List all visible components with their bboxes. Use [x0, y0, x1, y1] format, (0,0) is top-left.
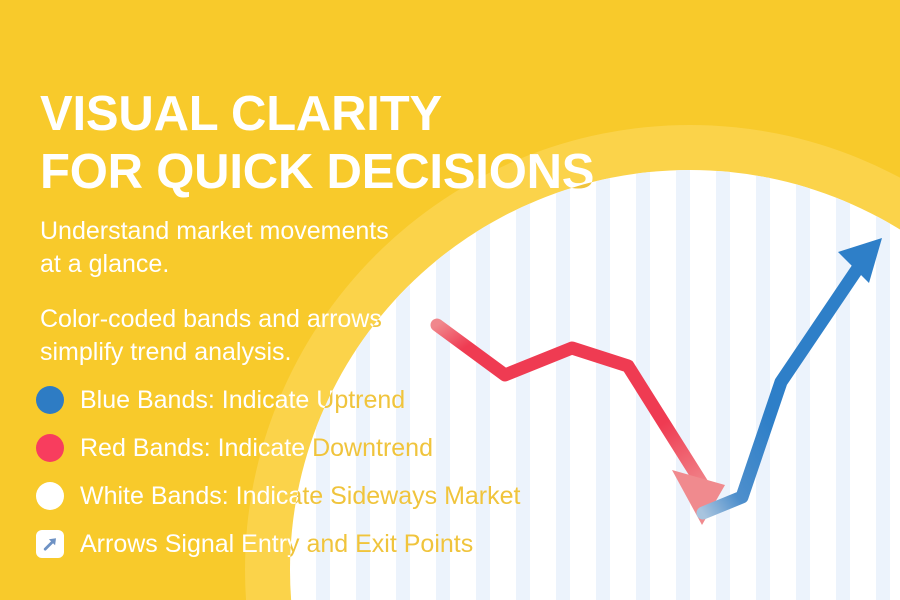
- page-title-line-2: FOR QUICK DECISIONS: [40, 143, 680, 201]
- list-item: Red Bands: Indicate Downtrend: [36, 424, 656, 472]
- list-item: White Bands: Indicate Sideways Market: [36, 472, 656, 520]
- poster-canvas: VISUAL CLARITY FOR QUICK DECISIONS Under…: [0, 0, 900, 600]
- list-item-label: White Bands: Indicate Sideways Market: [80, 482, 520, 510]
- list-item-label: Blue Bands: Indicate Uptrend: [80, 386, 405, 414]
- red-dot-icon: [36, 434, 64, 462]
- legend-list: Blue Bands: Indicate Uptrend Red Bands: …: [36, 376, 656, 568]
- page-title-line-1: VISUAL CLARITY: [40, 85, 680, 143]
- list-item-label: Arrows Signal Entry and Exit Points: [80, 530, 473, 558]
- intro-paragraph-1-line-1: Understand market movements: [40, 215, 560, 248]
- intro-paragraph-1-line-2: at a glance.: [40, 248, 560, 281]
- intro-paragraph-2: Color-coded bands and arrows simplify tr…: [40, 303, 560, 369]
- page-title: VISUAL CLARITY FOR QUICK DECISIONS: [40, 85, 680, 201]
- blue-dot-icon: [36, 386, 64, 414]
- intro-paragraph-2-line-2: simplify trend analysis.: [40, 336, 560, 369]
- white-dot-icon: [36, 482, 64, 510]
- list-item-label: Red Bands: Indicate Downtrend: [80, 434, 433, 462]
- text-content: VISUAL CLARITY FOR QUICK DECISIONS Under…: [0, 0, 900, 600]
- intro-paragraph-2-line-1: Color-coded bands and arrows: [40, 303, 560, 336]
- intro-paragraph-1: Understand market movements at a glance.: [40, 215, 560, 281]
- list-item: Arrows Signal Entry and Exit Points: [36, 520, 656, 568]
- arrow-badge-icon: [36, 530, 64, 558]
- list-item: Blue Bands: Indicate Uptrend: [36, 376, 656, 424]
